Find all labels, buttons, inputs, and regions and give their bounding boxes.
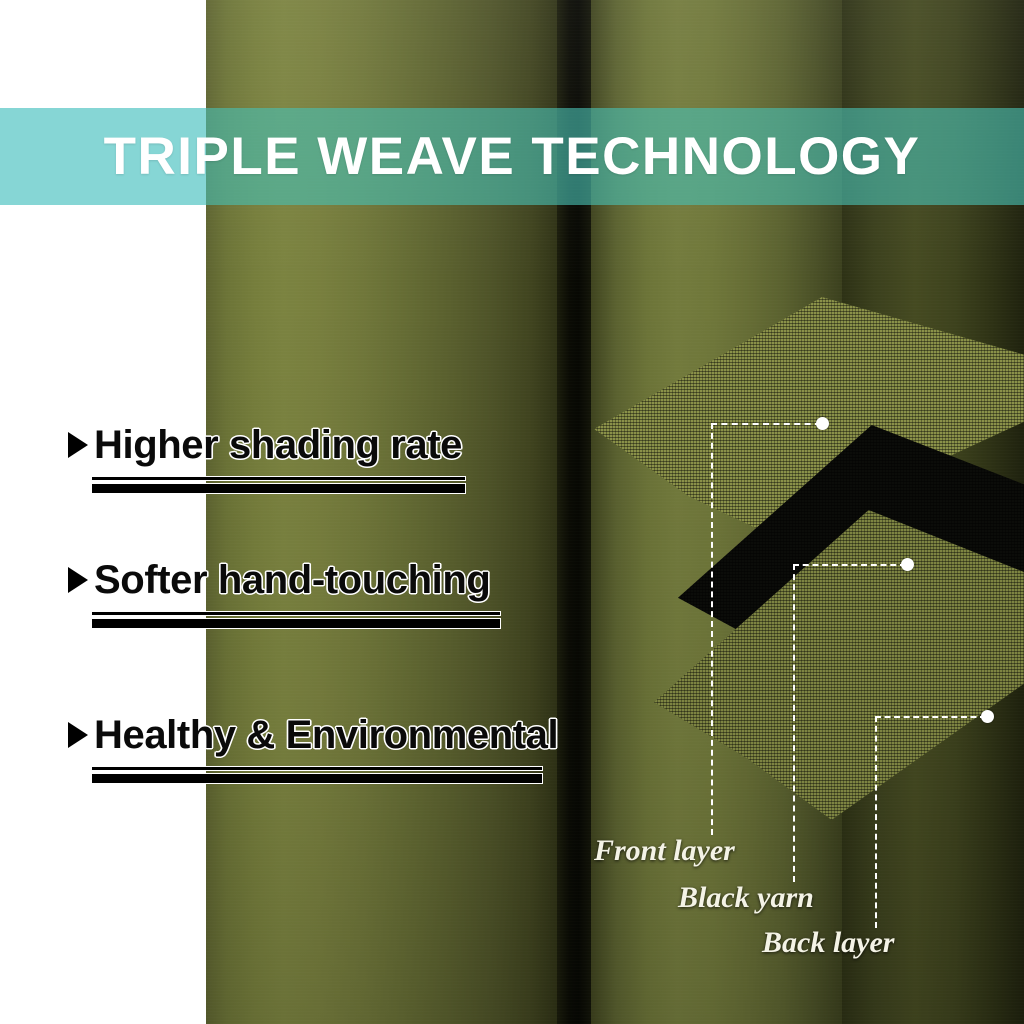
triangle-right-icon: [68, 567, 88, 593]
feature-underline: [92, 612, 500, 628]
weave-texture: [654, 510, 1024, 820]
fabric-layer-diagram: [590, 285, 1024, 860]
callout-label-black-yarn: Black yarn: [678, 881, 814, 915]
underline-thick-rule: [92, 774, 542, 783]
callout-label-back-layer: Back layer: [762, 926, 894, 960]
feature-item-1: Higher shading rate: [68, 425, 462, 465]
feature-item-2: Softer hand-touching: [68, 560, 490, 600]
callout-hline: [711, 423, 821, 425]
triangle-right-icon: [68, 432, 88, 458]
back-layer-sheet: [654, 510, 1024, 820]
callout-vline: [875, 716, 877, 928]
underline-thin-rule: [92, 477, 465, 480]
underline-thick-rule: [92, 619, 500, 628]
feature-label: Healthy & Environmental: [94, 715, 558, 755]
callout-label-front-layer: Front layer: [594, 834, 735, 868]
callout-hline: [875, 716, 986, 718]
underline-thin-rule: [92, 612, 500, 615]
callout-vline: [711, 423, 713, 835]
triangle-right-icon: [68, 722, 88, 748]
underline-thick-rule: [92, 484, 465, 493]
product-feature-image: TRIPLE WEAVE TECHNOLOGY Higher shading r…: [0, 0, 1024, 1024]
feature-underline: [92, 477, 465, 493]
feature-label: Higher shading rate: [94, 425, 462, 465]
callout-hline: [793, 564, 906, 566]
callout-vline: [793, 564, 795, 882]
feature-item-3: Healthy & Environmental: [68, 715, 558, 755]
underline-thin-rule: [92, 767, 542, 770]
feature-label: Softer hand-touching: [94, 560, 490, 600]
feature-underline: [92, 767, 542, 783]
